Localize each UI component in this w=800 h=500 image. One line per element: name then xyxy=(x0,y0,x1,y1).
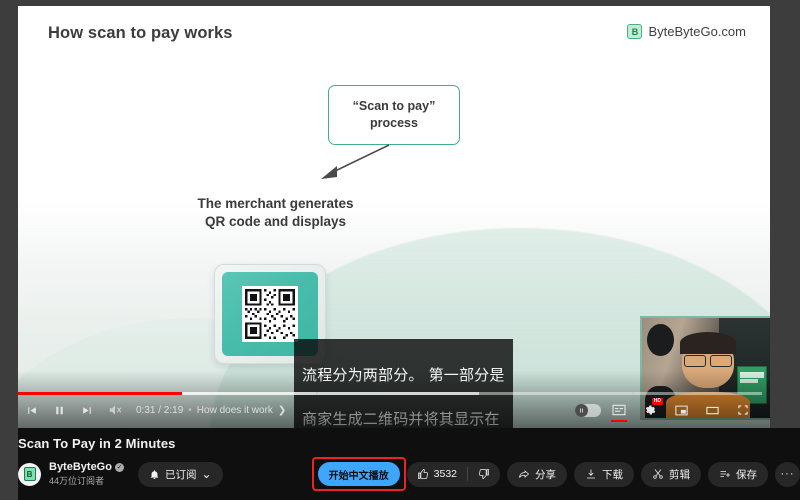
channel-text-block: ByteByteGo ✓ 44万位订阅者 xyxy=(49,461,124,487)
fullscreen-button[interactable] xyxy=(730,399,756,421)
slide-title: How scan to pay works xyxy=(48,24,233,43)
thumbs-down-icon xyxy=(478,468,490,480)
merchant-caption-line2: QR code and displays xyxy=(173,213,378,231)
like-count: 3532 xyxy=(434,468,457,480)
video-title: Scan To Pay in 2 Minutes xyxy=(18,436,800,451)
chapter-marker xyxy=(632,392,634,395)
player-controls-left: 0:31 / 2:19 • How does it work ❯ xyxy=(18,399,286,421)
chevron-down-icon: ⌄ xyxy=(201,471,211,477)
process-box-line2: process xyxy=(370,115,418,132)
clip-label: 剪辑 xyxy=(669,467,690,482)
theater-mode-button[interactable] xyxy=(699,399,725,421)
more-dots-icon: ··· xyxy=(781,468,795,480)
glasses-icon xyxy=(684,355,732,365)
dislike-button[interactable] xyxy=(468,462,500,487)
progress-played xyxy=(18,392,182,395)
app-window: How scan to pay works B ByteByteGo.com “… xyxy=(0,0,800,500)
like-dislike-group: 3532 xyxy=(407,462,500,487)
share-button[interactable]: 分享 xyxy=(507,462,567,487)
webcam-person-hair xyxy=(680,332,735,354)
channel-logo-icon: B xyxy=(24,467,36,481)
subscribed-button[interactable]: 已订阅 ⌄ xyxy=(138,462,223,487)
window-edge-left xyxy=(0,0,18,500)
chapter-marker xyxy=(316,392,318,395)
brand-watermark: B ByteByteGo.com xyxy=(627,24,746,39)
share-label: 分享 xyxy=(535,467,556,482)
process-box-line1: “Scan to pay” xyxy=(353,98,436,115)
start-chinese-playback-button[interactable]: 开始中文播放 xyxy=(318,462,400,486)
video-meta: Scan To Pay in 2 Minutes B ByteByteGo ✓ … xyxy=(18,436,800,487)
autoplay-knob xyxy=(575,404,588,417)
mute-button[interactable] xyxy=(102,399,128,421)
miniplayer-button[interactable] xyxy=(668,399,694,421)
webcam-headphones xyxy=(647,324,673,356)
save-to-playlist-icon xyxy=(719,468,731,480)
time-display: 0:31 / 2:19 xyxy=(136,405,183,416)
chapter-title[interactable]: How does it work xyxy=(197,405,273,416)
player-controls-right: HD xyxy=(575,399,762,421)
video-player[interactable]: How scan to pay works B ByteByteGo.com “… xyxy=(18,6,770,428)
channel-name: ByteByteGo xyxy=(49,461,112,473)
channel-name-row[interactable]: ByteByteGo ✓ xyxy=(49,461,124,473)
previous-video-button[interactable] xyxy=(18,399,44,421)
qr-code-image xyxy=(242,286,298,342)
settings-gear-button[interactable]: HD xyxy=(637,399,663,421)
brand-text: ByteByteGo.com xyxy=(648,24,746,39)
more-actions-button[interactable]: ··· xyxy=(775,462,800,487)
chinese-play-wrapper: 开始中文播放 xyxy=(318,462,400,486)
download-icon xyxy=(585,468,597,480)
progress-buffered xyxy=(182,392,480,395)
scissors-icon xyxy=(652,468,664,480)
window-edge-right xyxy=(770,0,800,428)
flow-arrow-icon xyxy=(313,141,393,187)
clip-button[interactable]: 剪辑 xyxy=(641,462,701,487)
action-buttons: 开始中文播放 3532 xyxy=(318,462,800,487)
pause-button[interactable] xyxy=(46,399,72,421)
bell-icon xyxy=(149,469,160,480)
like-button[interactable]: 3532 xyxy=(407,462,467,487)
subscribed-label: 已订阅 xyxy=(165,467,197,482)
subtitle-line-1: 流程分为两部分。 第一部分是 xyxy=(302,365,505,387)
subtitles-cc-button[interactable] xyxy=(606,399,632,421)
thumbs-up-icon xyxy=(417,468,429,480)
time-and-chapter: 0:31 / 2:19 • How does it work ❯ xyxy=(136,405,286,416)
merchant-caption-line1: The merchant generates xyxy=(173,195,378,213)
autoplay-switch[interactable] xyxy=(575,404,601,417)
progress-bar[interactable] xyxy=(18,391,762,395)
webcam-book-title xyxy=(740,372,764,378)
share-icon xyxy=(518,468,530,480)
meta-row: B ByteByteGo ✓ 44万位订阅者 已订阅 ⌄ xyxy=(18,461,800,487)
player-controls: 0:31 / 2:19 • How does it work ❯ xyxy=(18,399,762,421)
download-label: 下载 xyxy=(602,467,623,482)
bytebytego-logo-icon: B xyxy=(627,24,642,39)
subscriber-count: 44万位订阅者 xyxy=(49,474,124,487)
merchant-caption: The merchant generates QR code and displ… xyxy=(173,195,378,231)
channel-info[interactable]: B ByteByteGo ✓ 44万位订阅者 xyxy=(18,461,124,487)
settings-new-badge: HD xyxy=(652,398,663,405)
chapter-chevron-icon[interactable]: ❯ xyxy=(278,405,286,416)
save-label: 保存 xyxy=(736,467,757,482)
autoplay-toggle[interactable] xyxy=(575,399,601,421)
save-button[interactable]: 保存 xyxy=(708,462,768,487)
process-box: “Scan to pay” process xyxy=(328,85,460,145)
webcam-book-subtitle xyxy=(740,379,758,383)
avatar[interactable]: B xyxy=(18,463,41,486)
verified-badge-icon: ✓ xyxy=(115,463,124,472)
next-video-button[interactable] xyxy=(74,399,100,421)
chapter-separator: • xyxy=(188,405,192,416)
download-button[interactable]: 下载 xyxy=(574,462,634,487)
